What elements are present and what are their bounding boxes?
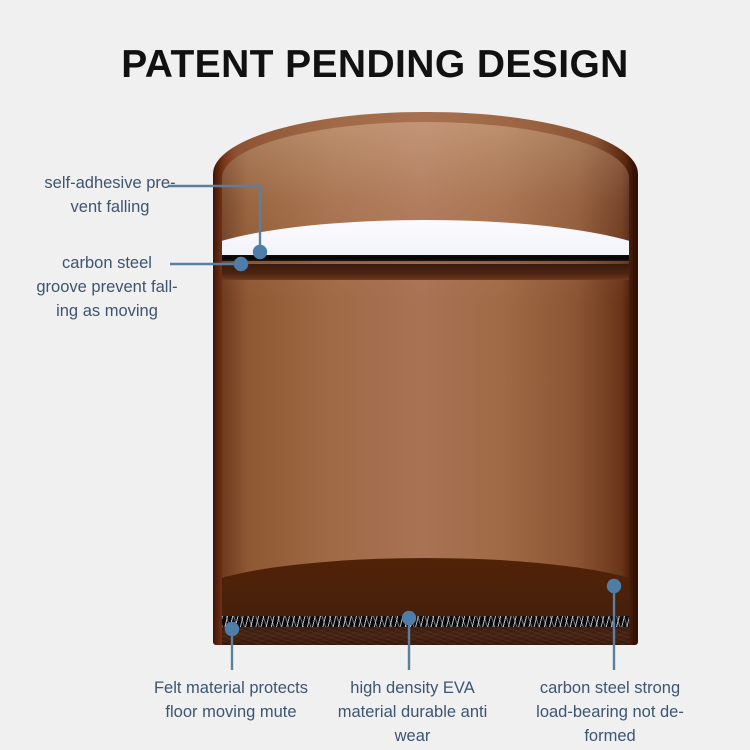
infographic-canvas: PATENT PENDING DESIGN bbox=[0, 0, 750, 750]
annotation-self-adhesive-line2: vent falling bbox=[14, 195, 206, 219]
caption-high-density-eva-line2: material durable anti bbox=[330, 700, 495, 724]
caption-high-density-eva-line1: high density EVA bbox=[330, 676, 495, 700]
caption-felt-material-line2: floor moving mute bbox=[131, 700, 331, 724]
caption-carbon-steel-strong-line2: load-bearing not de- bbox=[520, 700, 700, 724]
annotation-carbon-steel-groove: carbon steel groove prevent fall- ing as… bbox=[8, 251, 206, 323]
self-adhesive-strip-fill bbox=[222, 220, 629, 256]
inner-bottom-curve-fill bbox=[222, 558, 629, 617]
inner-bottom-curve bbox=[222, 542, 629, 617]
self-adhesive-strip bbox=[222, 220, 629, 256]
annotation-carbon-steel-groove-line3: ing as moving bbox=[8, 299, 206, 323]
page-title: PATENT PENDING DESIGN bbox=[0, 41, 750, 89]
groove-under-band bbox=[222, 264, 629, 280]
caption-high-density-eva-line3: wear bbox=[330, 724, 495, 748]
caption-carbon-steel-strong-line1: carbon steel strong bbox=[520, 676, 700, 700]
caption-felt-material-line1: Felt material protects bbox=[131, 676, 331, 700]
eva-material-layer bbox=[222, 616, 629, 627]
annotation-self-adhesive-line1: self-adhesive pre- bbox=[14, 171, 206, 195]
felt-material-layer bbox=[222, 627, 629, 645]
annotation-carbon-steel-groove-line2: groove prevent fall- bbox=[8, 275, 206, 299]
annotation-carbon-steel-groove-line1: carbon steel bbox=[8, 251, 206, 275]
caption-carbon-steel-strong-line3: formed bbox=[520, 724, 700, 748]
annotation-self-adhesive: self-adhesive pre- vent falling bbox=[14, 171, 206, 219]
caption-carbon-steel-strong: carbon steel strong load-bearing not de-… bbox=[520, 676, 700, 748]
product-illustration bbox=[213, 112, 638, 645]
caption-felt-material: Felt material protects floor moving mute bbox=[131, 676, 331, 724]
caption-high-density-eva: high density EVA material durable anti w… bbox=[330, 676, 495, 748]
